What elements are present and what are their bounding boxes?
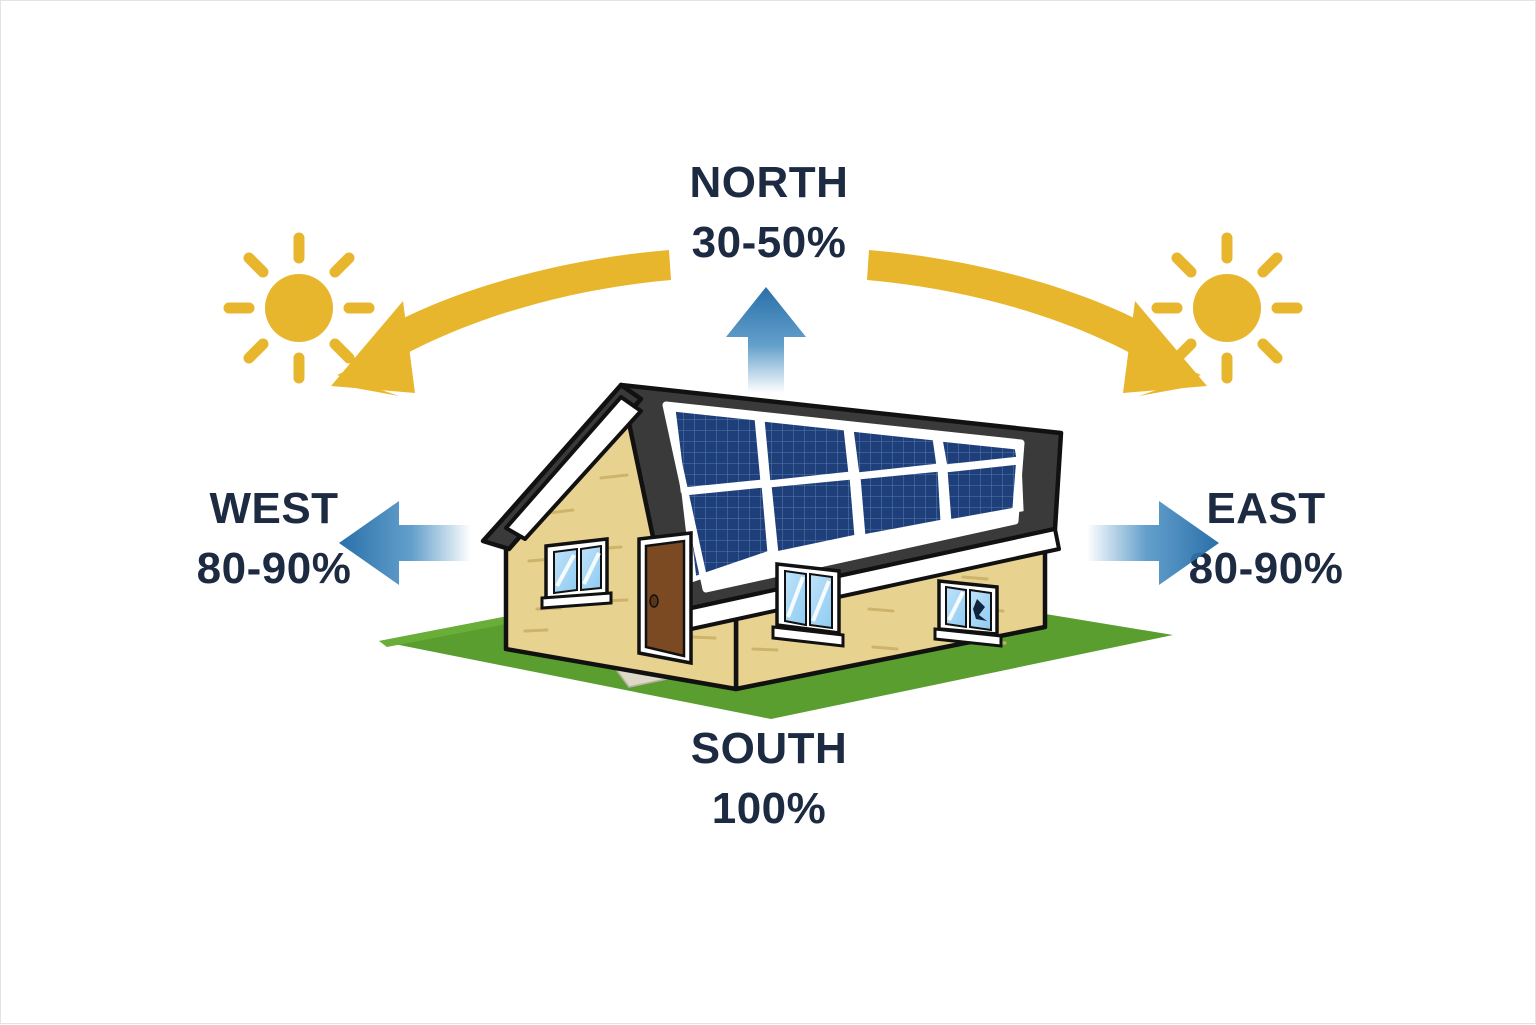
window-front: [542, 539, 611, 608]
house-with-solar-panels-illustration: [1, 1, 1536, 1025]
window-side-right: [935, 581, 1001, 646]
window-side-left: [773, 564, 843, 646]
diagram-canvas: NORTH 30-50% SOUTH 100% WEST 80-90% EAST…: [0, 0, 1536, 1024]
front-door: [639, 533, 691, 663]
